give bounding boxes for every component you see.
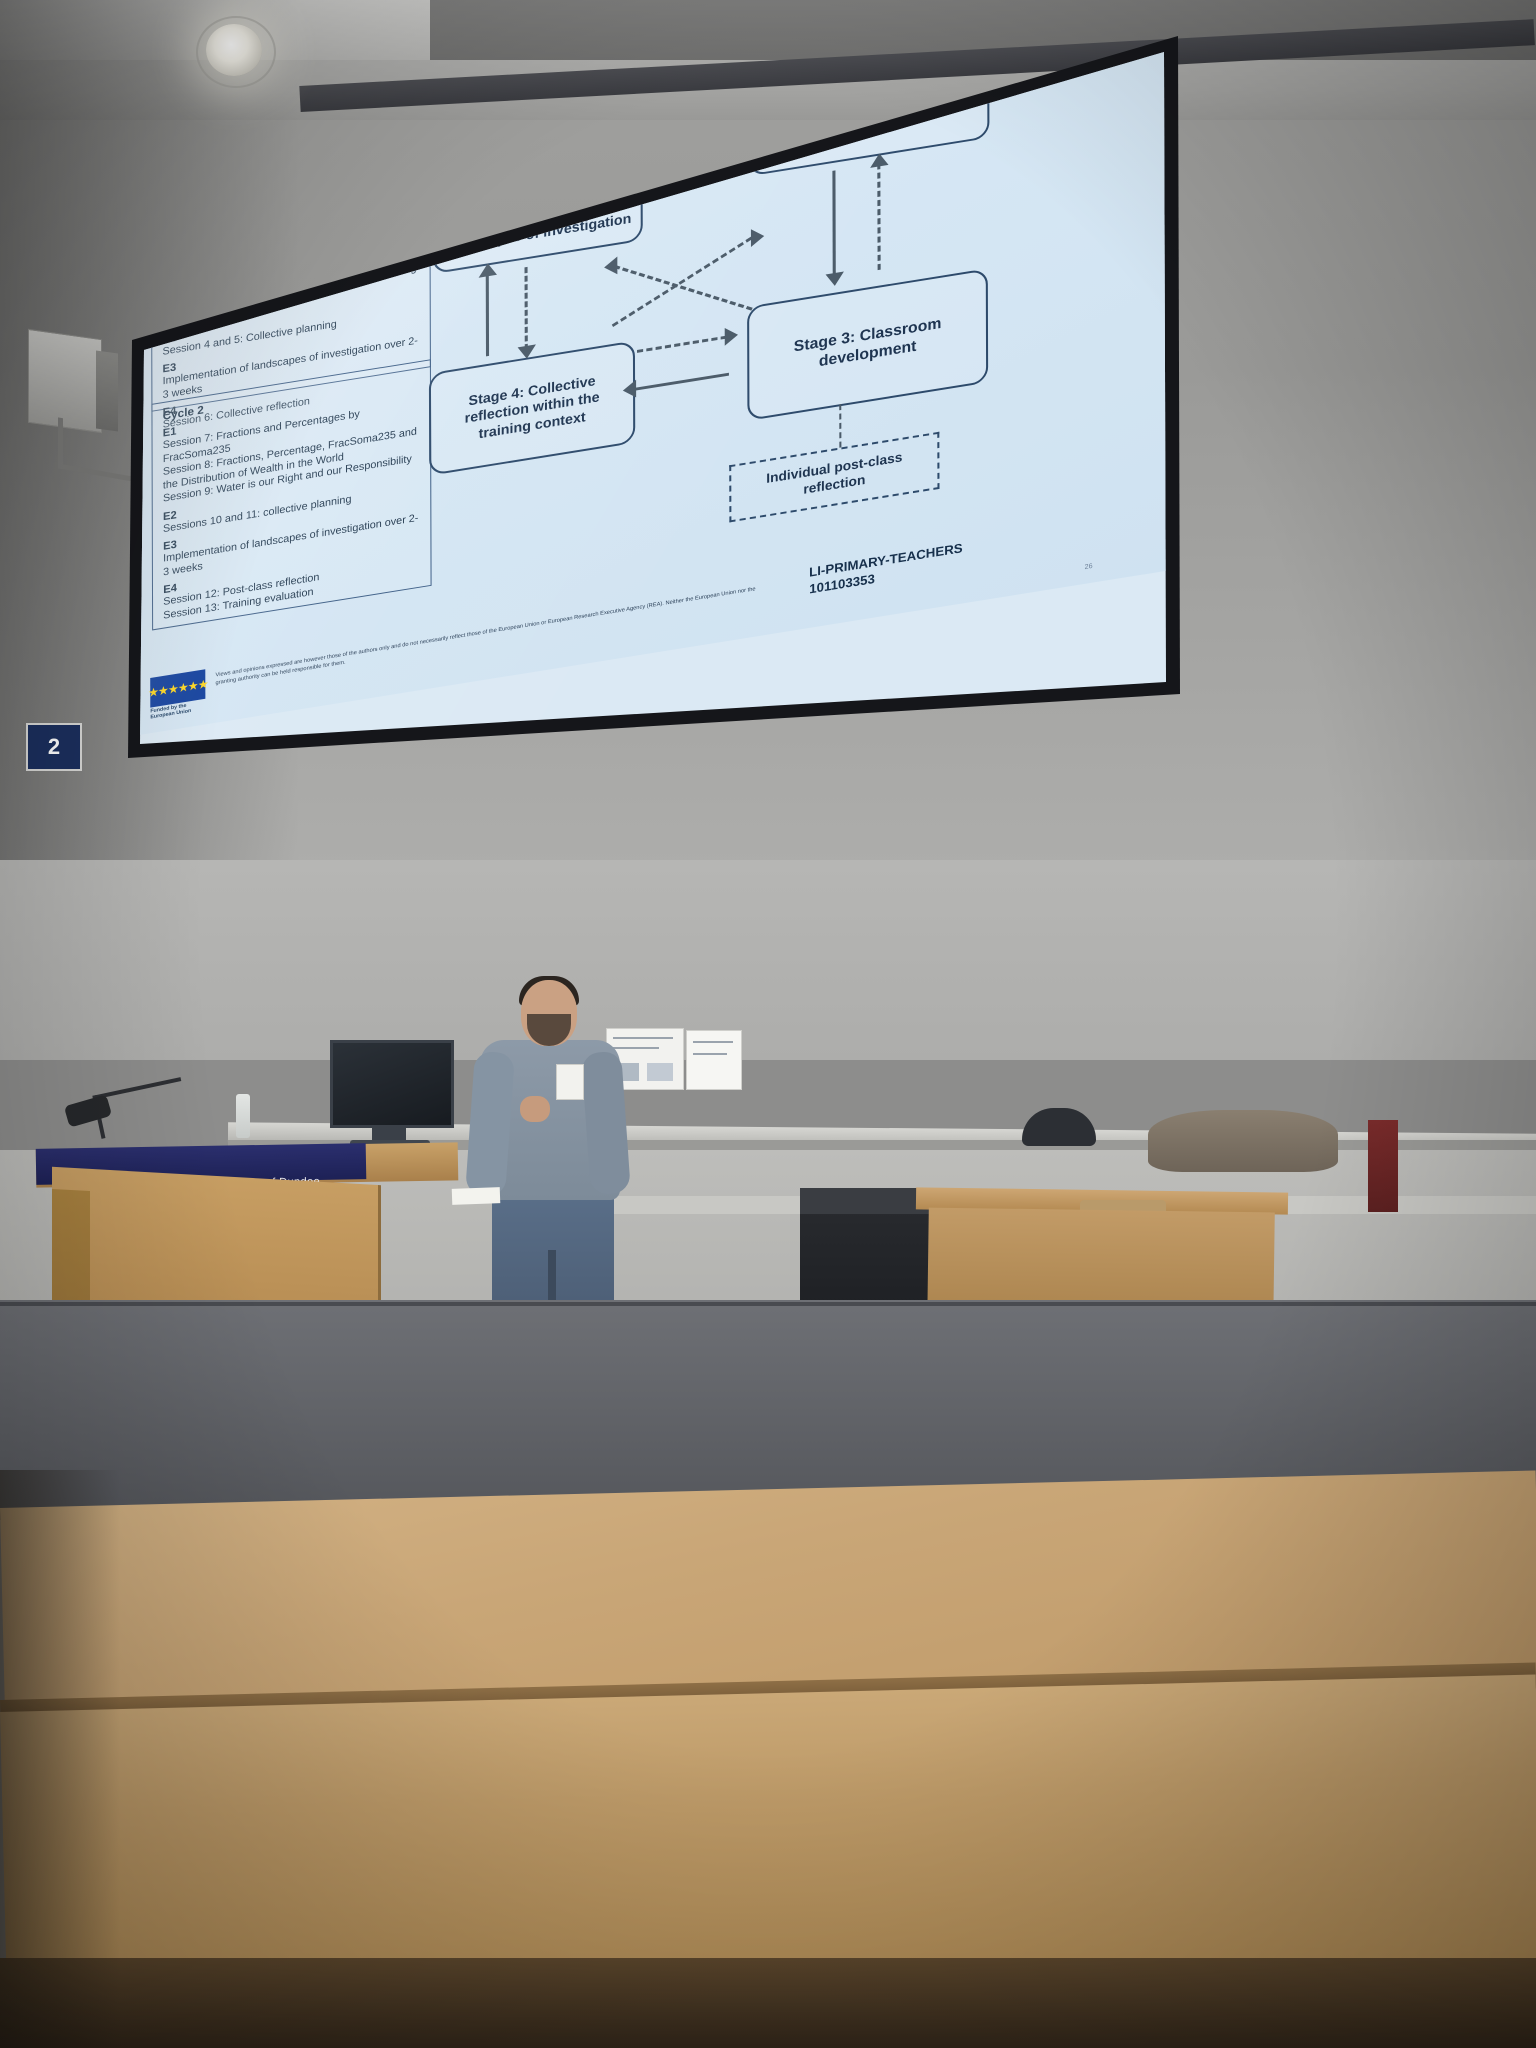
arrow-stage1-to-stage4 [525,267,528,350]
wall-below-screen [0,860,1536,1060]
arrow-stage4-to-stage3 [637,336,727,353]
front-desk-shadow [0,1958,1536,2048]
individual-post-class-reflection-box: Individual post-class reflection [729,432,939,523]
cap-on-shelf [1022,1108,1096,1146]
lecture-hall-photo: 2 Teacher Education Cycles for Critical … [0,0,1536,2048]
stage-3-box: Stage 3: Classroom development [747,268,988,421]
arrow-stage3-to-reflection [839,404,841,448]
stage-4-box: Stage 4: Collective reflection within th… [429,340,635,475]
arrow-stage2-to-stage3 [832,170,836,277]
paper-on-lectern [452,1187,501,1205]
ceiling-light-icon [206,24,262,76]
lectern-monitor [330,1040,454,1128]
arrow-diagonal-stage4-stage2 [612,237,752,327]
desk-left-shadow [0,1470,120,2048]
arrow-stage3-to-stage2 [877,163,880,270]
arrow-stage3-to-stage4 [635,373,729,391]
arrow-stage4-to-stage1 [486,273,490,356]
arrowhead-icon [623,380,636,400]
floor-edge-line [0,1302,1536,1306]
slide-number: 26 [1085,563,1093,571]
arrowhead-icon [870,152,888,168]
coat-on-shelf [1148,1110,1338,1172]
arrowhead-icon [826,272,844,288]
arrowhead-icon [751,227,764,247]
water-bottle [236,1094,250,1138]
wall-speaker-side [96,350,118,431]
wall-sign: 2 [26,723,82,771]
arrow-diagonal-stage1-stage3 [614,265,753,311]
presenter-hand [520,1096,550,1122]
wall-poster-right [686,1030,742,1090]
arrowhead-icon [604,257,617,277]
arrowhead-icon [479,262,497,278]
cycle-2-box: Cycle 2 E1 Session 7: Fractions and Perc… [151,359,431,630]
eu-stars-icon: ★★★★★★ [148,677,208,700]
scarf-on-shelf [1368,1120,1398,1212]
project-code: LI-PRIMARY-TEACHERS 101103353 [809,524,1064,598]
presenter-name-badge [556,1064,584,1100]
arrowhead-icon [725,326,738,346]
wall-speaker [28,329,102,433]
